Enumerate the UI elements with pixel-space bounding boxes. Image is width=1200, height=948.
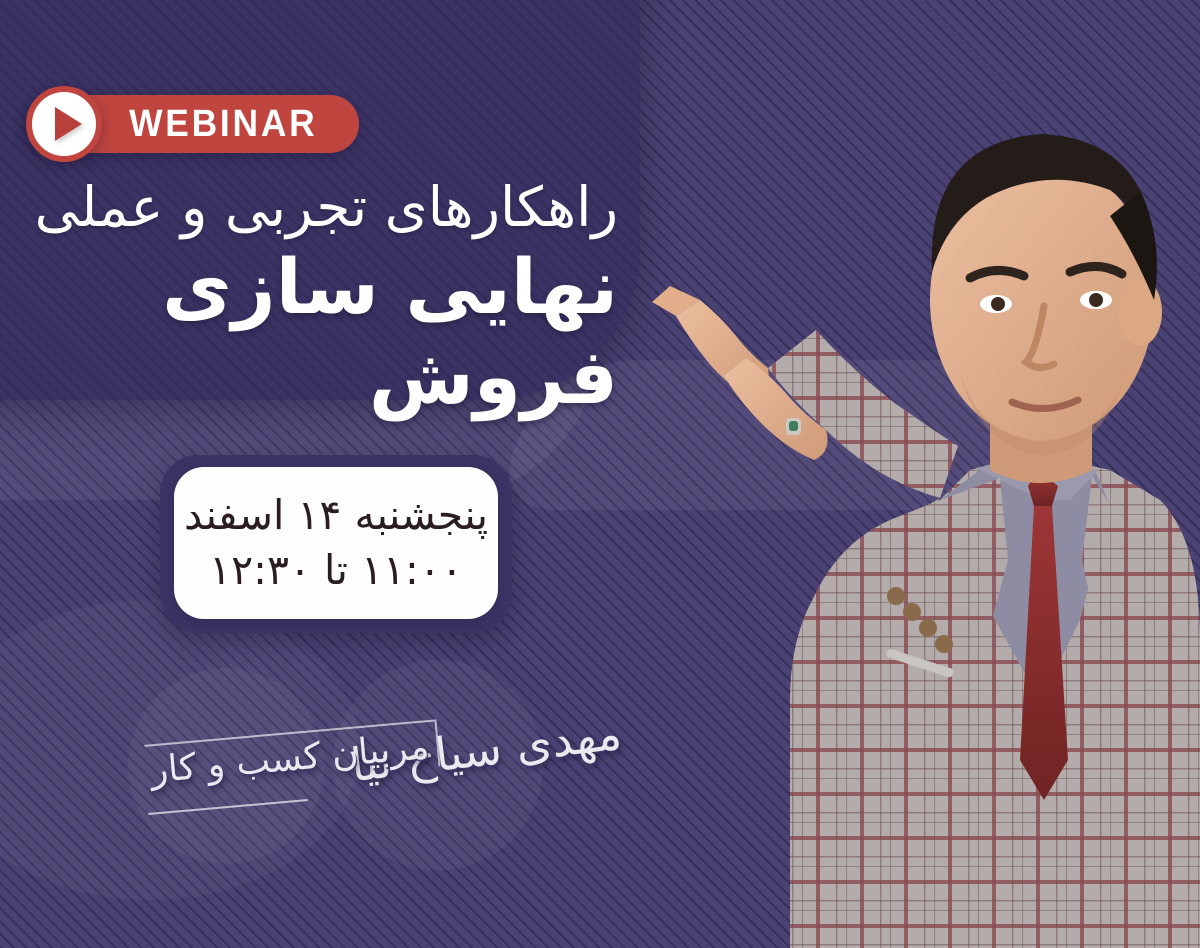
schedule-date: پنجشنبه ۱۴ اسفند [184,492,488,539]
play-triangle-icon [55,107,82,141]
webinar-badge: WEBINAR [26,86,359,162]
headline: راهکارهای تجربی و عملی نهایی سازی فروش [0,175,636,421]
schedule-time: ۱۱:۰۰ تا ۱۲:۳۰ [209,547,463,594]
logo-group: مهدی سیاح نیا مربیان کسب و کار [128,660,548,870]
headline-title: نهایی سازی فروش [0,242,618,421]
play-icon [26,86,102,162]
schedule-card: پنجشنبه ۱۴ اسفند ۱۱:۰۰ تا ۱۲:۳۰ [174,467,498,619]
speaker-photo [640,0,1200,948]
webinar-banner: WEBINAR راهکارهای تجربی و عملی نهایی ساز… [0,0,1200,948]
schedule-card-backing: پنجشنبه ۱۴ اسفند ۱۱:۰۰ تا ۱۲:۳۰ [160,455,512,633]
headline-subtitle: راهکارهای تجربی و عملی [0,175,618,240]
webinar-badge-label: WEBINAR [129,105,317,143]
